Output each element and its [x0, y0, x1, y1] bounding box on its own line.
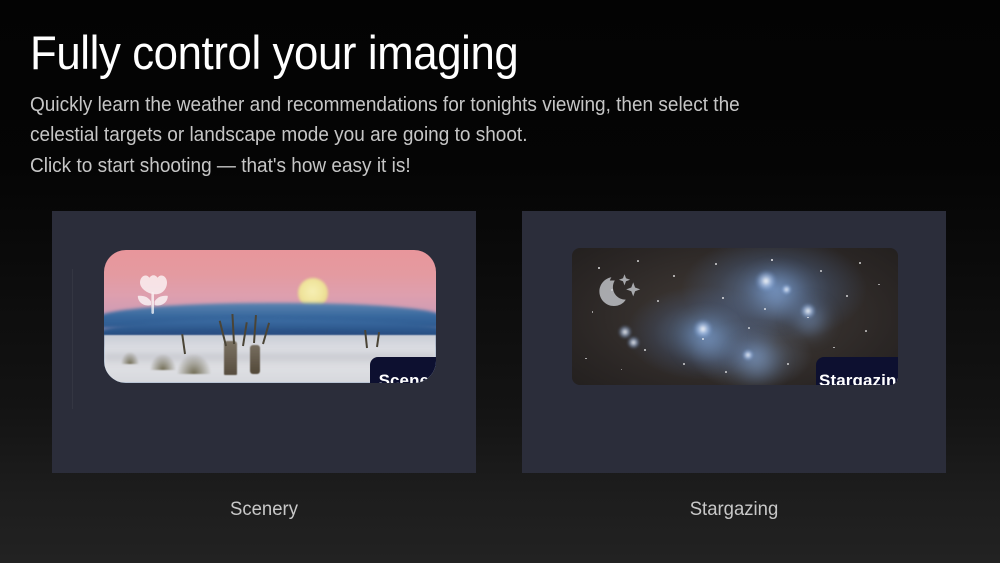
desert-shrub [121, 352, 139, 364]
star [657, 300, 659, 302]
stargazing-thumbnail[interactable]: Stargazing [572, 248, 898, 385]
caption-scenery: Scenery [63, 498, 466, 521]
stargazing-badge[interactable]: Stargazing [816, 357, 898, 385]
star [865, 330, 867, 332]
subtitle-line-1: Quickly learn the weather and recommenda… [30, 90, 904, 120]
bright-star [781, 284, 792, 295]
crescent-moon-stars-icon [596, 270, 646, 310]
scenery-badge[interactable]: Scenery [370, 357, 436, 383]
bright-star [742, 349, 754, 361]
bright-star [693, 319, 713, 339]
star [748, 327, 750, 329]
caption-stargazing: Stargazing [533, 498, 936, 521]
page-title: Fully control your imaging [30, 28, 886, 78]
bright-star [755, 270, 777, 292]
star [637, 260, 639, 262]
card-stargazing[interactable]: Stargazing [522, 211, 946, 473]
star [846, 295, 848, 297]
star [592, 311, 594, 313]
subtitle-line-3: Click to start shooting — that's how eas… [30, 151, 904, 181]
star [725, 371, 727, 373]
star [859, 262, 861, 264]
hero-header: Fully control your imaging Quickly learn… [30, 28, 950, 181]
desert-shrub [177, 354, 211, 374]
star [764, 308, 766, 310]
mode-card-row: Scenery [52, 211, 946, 473]
flower-icon [130, 268, 176, 318]
desert-shrub [150, 354, 176, 370]
yucca-plant-second [250, 345, 260, 374]
card-scenery[interactable]: Scenery [52, 211, 476, 473]
scenery-thumbnail[interactable]: Scenery [104, 250, 436, 383]
subtitle-line-2: celestial targets or landscape mode you … [30, 120, 904, 150]
panel-seam [72, 269, 73, 409]
star [683, 363, 685, 365]
hero-subtitle: Quickly learn the weather and recommenda… [30, 90, 904, 181]
star [820, 270, 822, 272]
